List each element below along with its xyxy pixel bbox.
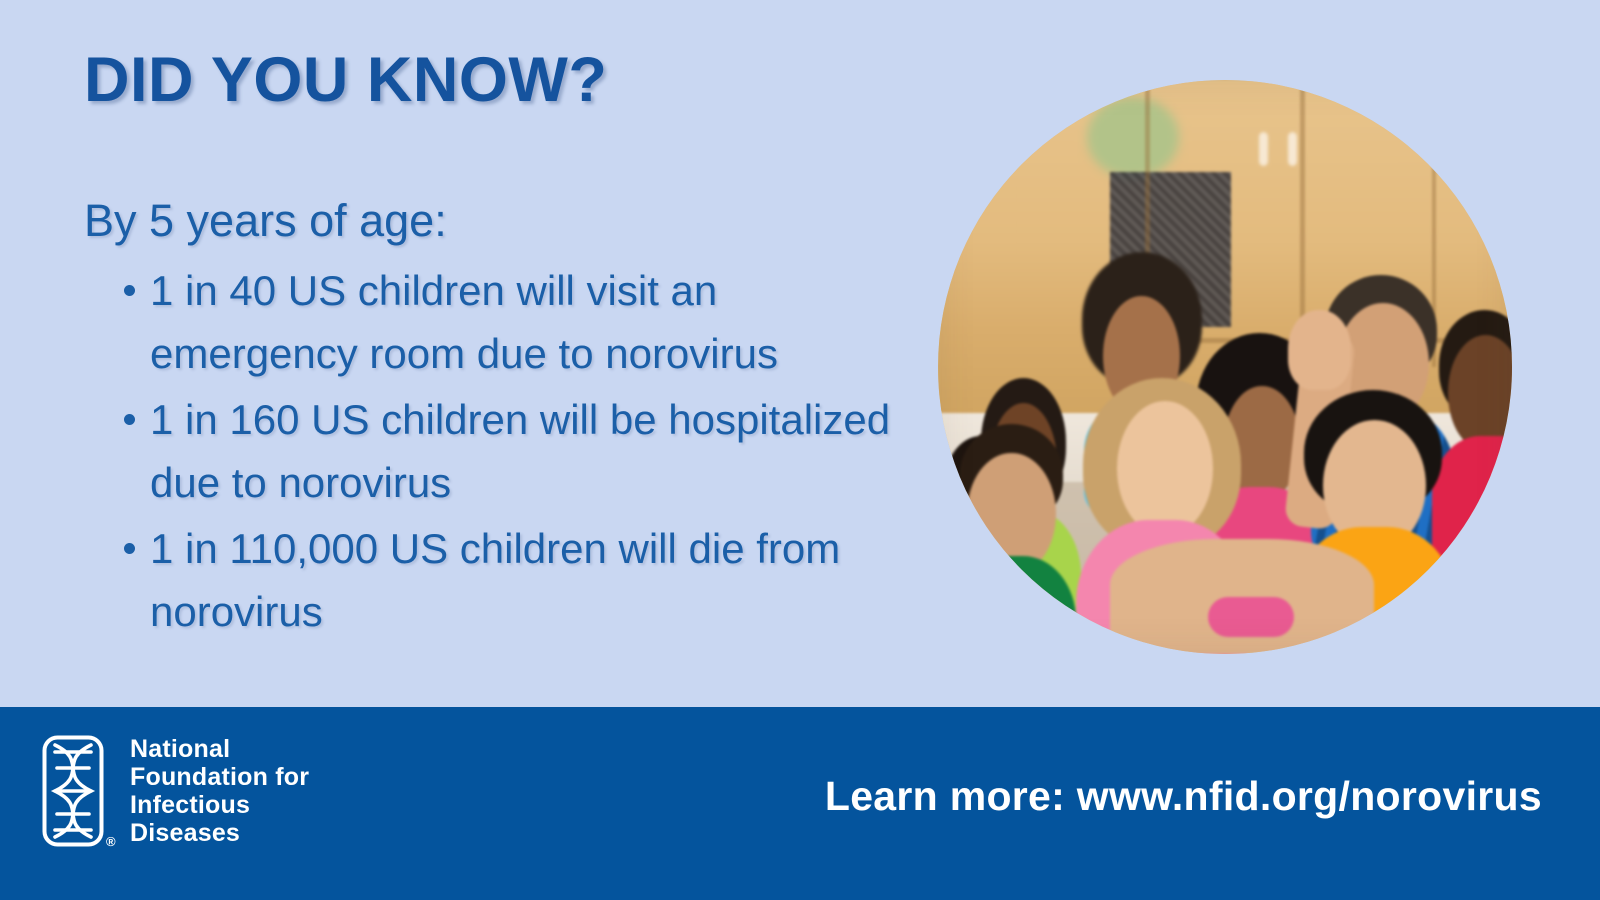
fact-list: 1 in 40 US children will visit an emerge… [84, 259, 914, 643]
logo-line: Diseases [130, 819, 309, 847]
registered-trademark-icon: ® [106, 834, 116, 849]
learn-more-link[interactable]: Learn more: www.nfid.org/norovirus [825, 773, 1542, 820]
logo-line: National [130, 735, 309, 763]
fact-text: 1 in 160 US children will be hospitalize… [150, 396, 890, 506]
fact-text: 1 in 40 US children will visit an emerge… [150, 267, 778, 377]
photo-vignette [938, 80, 1512, 654]
logo-line: Foundation for [130, 763, 309, 791]
bullet-icon [124, 285, 135, 296]
bullet-icon [124, 414, 135, 425]
infographic-poster: DID YOU KNOW? By 5 years of age: 1 in 40… [0, 0, 1600, 900]
main-content-area: DID YOU KNOW? By 5 years of age: 1 in 40… [0, 0, 1600, 707]
fact-text: 1 in 110,000 US children will die from n… [150, 525, 840, 635]
dna-helix-icon: ® [42, 735, 104, 847]
logo-line: Infectious [130, 791, 309, 819]
list-item: 1 in 110,000 US children will die from n… [84, 517, 914, 643]
nfid-logo-text: National Foundation for Infectious Disea… [130, 735, 309, 847]
bullet-icon [124, 543, 135, 554]
photo-content [938, 80, 1512, 654]
list-item: 1 in 160 US children will be hospitalize… [84, 388, 914, 514]
list-item: 1 in 40 US children will visit an emerge… [84, 259, 914, 385]
lead-in-text: By 5 years of age: [84, 194, 914, 247]
nfid-logo[interactable]: ® National Foundation for Infectious Dis… [42, 735, 309, 847]
page-title: DID YOU KNOW? [84, 44, 607, 116]
footer-band: ® National Foundation for Infectious Dis… [0, 707, 1600, 900]
fact-block: By 5 years of age: 1 in 40 US children w… [84, 194, 914, 646]
classroom-children-photo [938, 80, 1512, 654]
